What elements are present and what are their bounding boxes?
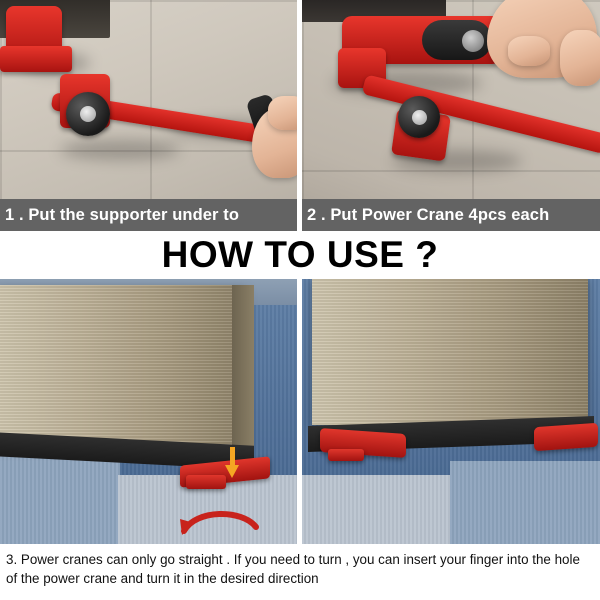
step-3-closeup-photo: Close-up of the cabinet corner supported… (302, 279, 600, 544)
wheel-hub (80, 106, 96, 122)
cabinet (0, 285, 246, 445)
carpet-tile (450, 461, 600, 544)
crane-finger-hole (462, 30, 484, 52)
step-1-caption: 1 . Put the supporter under to (0, 199, 297, 231)
step-3-caption: 3. Power cranes can only go straight . I… (0, 546, 600, 600)
cabinet (312, 279, 588, 425)
step-1-photo: Red furniture lifter bar with wheels bei… (0, 0, 297, 231)
hand-thumb (508, 36, 550, 66)
shadow (60, 140, 180, 160)
down-arrow-icon (225, 465, 239, 478)
step-2-caption: 2 . Put Power Crane 4pcs each (302, 199, 600, 231)
hand-fingers (560, 30, 600, 86)
bottom-image-row: Wooden cabinet resting on red power cran… (0, 279, 600, 544)
carpet-tile (302, 475, 452, 544)
down-arrow-stem (230, 447, 235, 467)
how-to-use-infographic: Red furniture lifter bar with wheels bei… (0, 0, 600, 600)
cabinet-side-edge (232, 285, 254, 455)
power-crane-roller-foot (186, 475, 226, 489)
power-crane-roller (534, 423, 598, 451)
step-2-photo: Hand pressing a red power crane roller u… (302, 0, 600, 231)
power-crane-roller-foot (328, 449, 364, 461)
step-3-photo: Wooden cabinet resting on red power cran… (0, 279, 297, 544)
lifter-foot (0, 46, 72, 72)
turn-arrow-icon (176, 501, 266, 543)
hand-fingers (268, 96, 297, 130)
page-title: HOW TO USE ? (0, 231, 600, 279)
top-image-row: Red furniture lifter bar with wheels bei… (0, 0, 600, 231)
wheel-hub (412, 110, 427, 125)
